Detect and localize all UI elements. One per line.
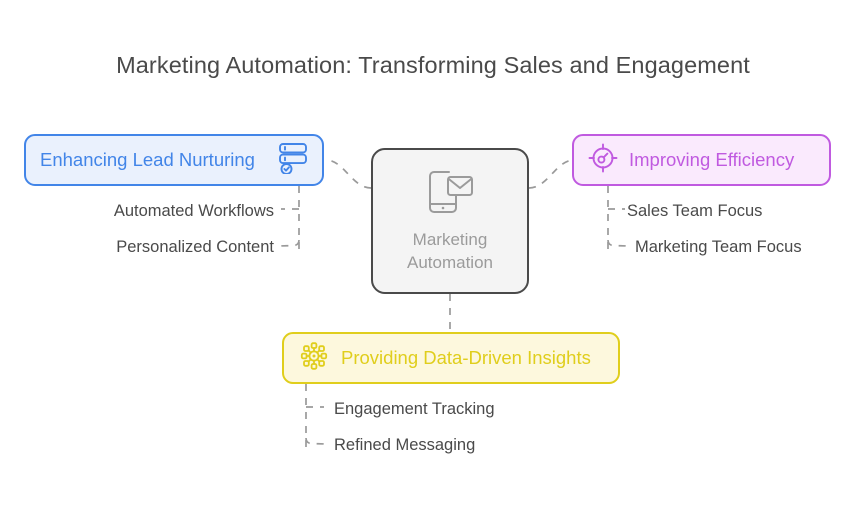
edge-lead-leaf-2 — [281, 240, 299, 246]
leaf-engagement-tracking: Engagement Tracking — [334, 401, 495, 418]
leaf-sales-team-focus: Sales Team Focus — [627, 203, 762, 220]
target-gauge-icon — [588, 143, 618, 178]
edge-efficiency-leaf-2 — [608, 240, 626, 246]
branch-label-data-driven-insights: Providing Data-Driven Insights — [341, 349, 591, 368]
branch-node-data-driven-insights[interactable]: Providing Data-Driven Insights — [282, 332, 620, 384]
center-node[interactable]: Marketing Automation — [371, 148, 529, 294]
server-stack-check-icon — [278, 142, 308, 179]
branch-node-improving-efficiency[interactable]: Improving Efficiency — [572, 134, 831, 186]
branch-label-improving-efficiency: Improving Efficiency — [629, 151, 794, 170]
leaf-marketing-team-focus: Marketing Team Focus — [635, 239, 802, 256]
center-node-label: Marketing Automation — [407, 229, 493, 274]
edge-center-to-efficiency — [529, 160, 574, 188]
phone-envelope-icon — [424, 168, 476, 223]
center-node-label-line2: Automation — [407, 252, 493, 274]
leaf-automated-workflows: Automated Workflows — [114, 203, 274, 220]
diagram-canvas: Marketing Automation: Transforming Sales… — [0, 0, 866, 506]
edge-center-to-lead — [326, 160, 371, 188]
leaf-personalized-content: Personalized Content — [116, 239, 274, 256]
center-node-label-line1: Marketing — [407, 229, 493, 251]
edge-insights-leaf-2 — [306, 438, 324, 444]
leaf-refined-messaging: Refined Messaging — [334, 437, 475, 454]
page-title: Marketing Automation: Transforming Sales… — [0, 52, 866, 79]
branch-node-lead-nurturing[interactable]: Enhancing Lead Nurturing — [24, 134, 324, 186]
branch-label-lead-nurturing: Enhancing Lead Nurturing — [40, 151, 255, 170]
network-nodes-icon — [298, 341, 330, 376]
